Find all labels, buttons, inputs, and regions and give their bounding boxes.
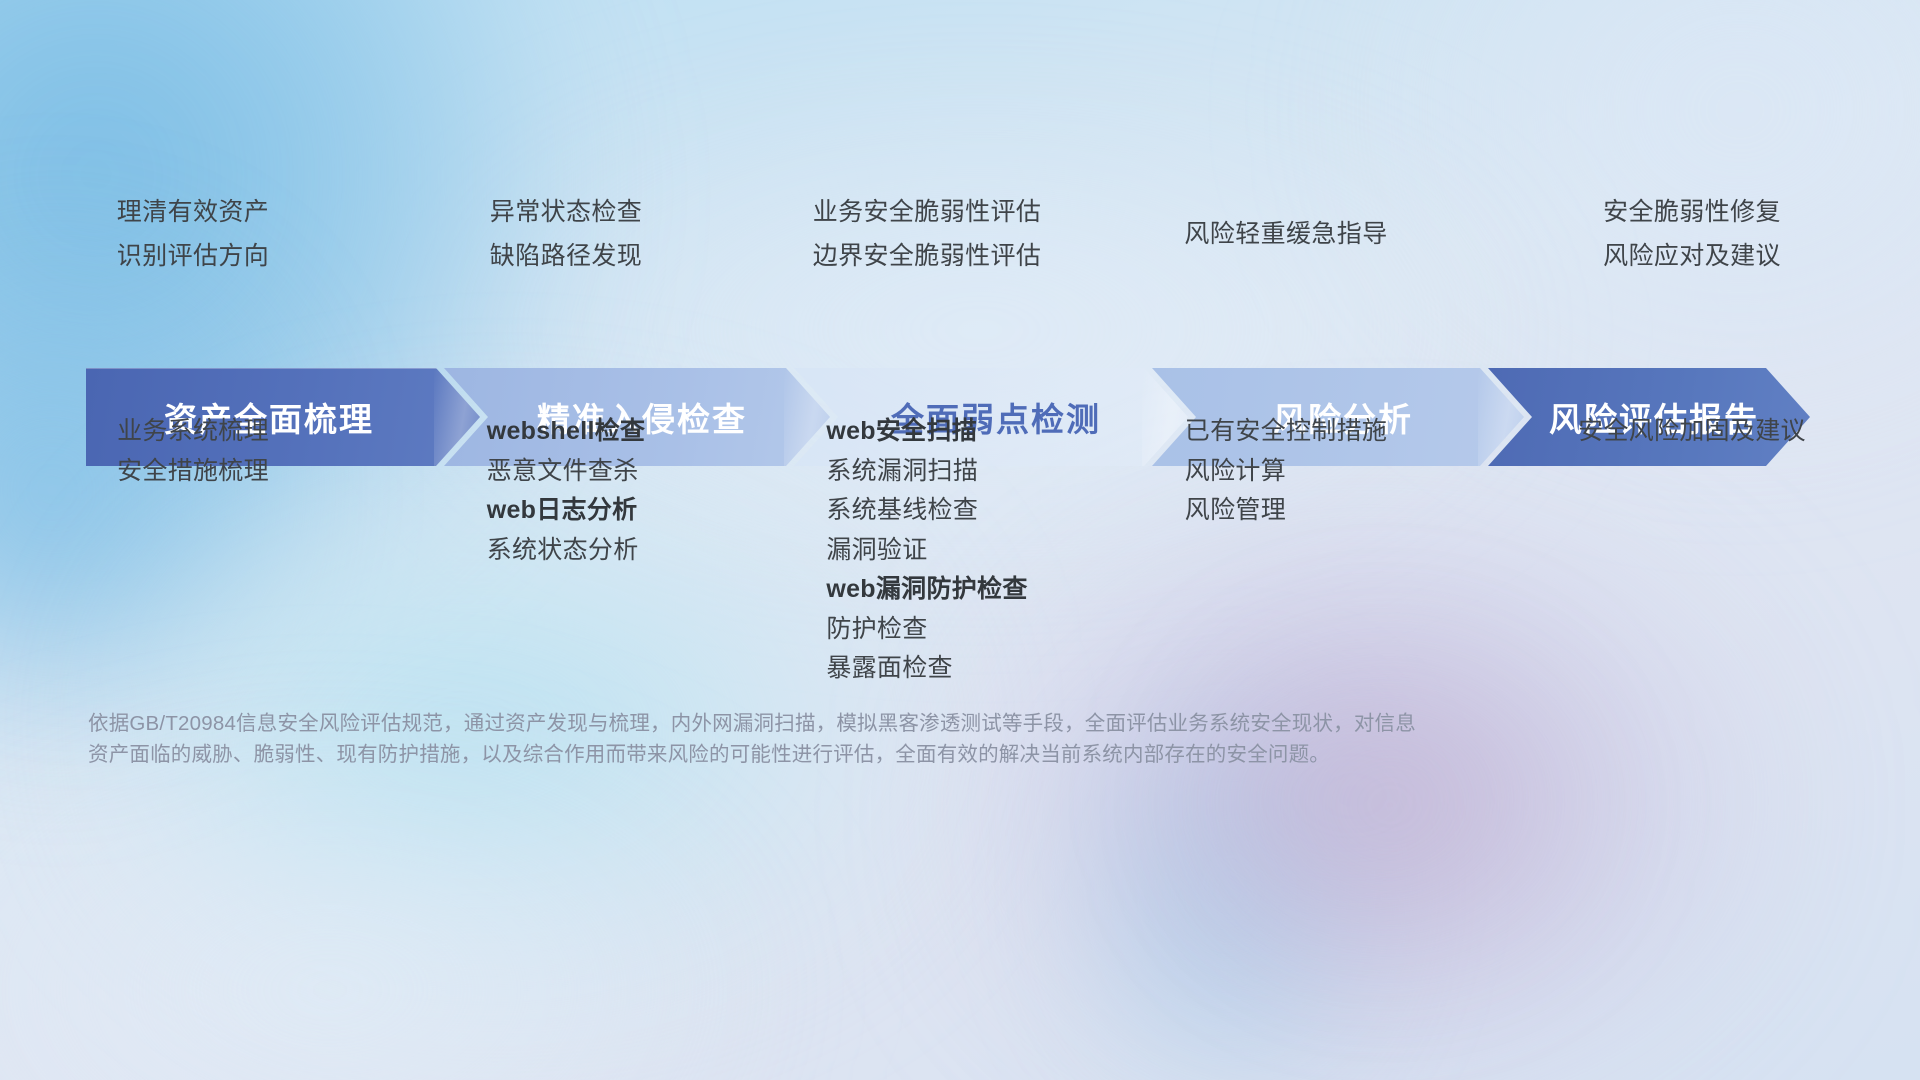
stage-task-item: 系统状态分析	[487, 531, 646, 571]
stage-task-item: webshell检查	[487, 412, 646, 452]
slide-canvas: 理清有效资产 识别评估方向 异常状态检查 缺陷路径发现 业务安全脆弱性评估 边界…	[0, 0, 1920, 1080]
stage-output-text: 识别评估方向	[117, 234, 269, 278]
stage-task-item: 恶意文件查杀	[487, 452, 646, 492]
stage-task-item: 安全风险加固及建议	[1578, 412, 1806, 452]
stage-output-text: 边界安全脆弱性评估	[813, 234, 1042, 278]
stage-output-text: 理清有效资产	[117, 190, 269, 234]
footer-description: 依据GB/T20984信息安全风险评估规范，通过资产发现与梳理，内外网漏洞扫描，…	[88, 708, 1408, 770]
stage-task-item: 风险计算	[1185, 452, 1387, 492]
stage-task-item: web安全扫描	[826, 412, 1027, 452]
stage-task-item: 业务系统梳理	[117, 412, 269, 452]
stage-tasks-row: 业务系统梳理 安全措施梳理 webshell检查 恶意文件查杀 web日志分析 …	[0, 412, 1920, 689]
stage-output-text: 安全脆弱性修复	[1603, 190, 1781, 234]
background-blob-lavender-accent	[1180, 640, 1600, 970]
stage-tasks-1: 业务系统梳理 安全措施梳理	[0, 412, 386, 491]
stage-task-item: web日志分析	[487, 491, 646, 531]
stage-outputs-5: 安全脆弱性修复 风险应对及建议	[1464, 190, 1920, 278]
stage-output-text: 异常状态检查	[490, 190, 642, 234]
footer-line: 资产面临的威胁、脆弱性、现有防护措施，以及综合作用而带来风险的可能性进行评估，全…	[88, 739, 1408, 770]
stage-task-item: web漏洞防护检查	[826, 570, 1027, 610]
stage-outputs-3: 业务安全脆弱性评估 边界安全脆弱性评估	[746, 190, 1108, 278]
stage-task-item: 已有安全控制措施	[1185, 412, 1387, 452]
stage-task-item: 风险管理	[1185, 491, 1387, 531]
stage-task-item: 安全措施梳理	[117, 452, 269, 492]
stage-output-text: 缺陷路径发现	[490, 234, 642, 278]
stage-output-text: 风险应对及建议	[1603, 234, 1781, 278]
stage-outputs-row: 理清有效资产 识别评估方向 异常状态检查 缺陷路径发现 业务安全脆弱性评估 边界…	[0, 190, 1920, 278]
background-blob-white-bottom-left	[0, 760, 780, 1080]
stage-outputs-1: 理清有效资产 识别评估方向	[0, 190, 386, 278]
stage-tasks-4: 已有安全控制措施 风险计算 风险管理	[1108, 412, 1464, 531]
stage-task-item: 防护检查	[826, 610, 1027, 650]
stage-output-text: 风险轻重缓急指导	[1184, 212, 1387, 256]
stage-task-item: 系统漏洞扫描	[826, 452, 1027, 492]
stage-output-text: 业务安全脆弱性评估	[813, 190, 1042, 234]
stage-task-item: 系统基线检查	[826, 491, 1027, 531]
stage-outputs-2: 异常状态检查 缺陷路径发现	[386, 190, 746, 278]
stage-tasks-5: 安全风险加固及建议	[1464, 412, 1920, 452]
stage-task-item: 暴露面检查	[826, 649, 1027, 689]
footer-line: 依据GB/T20984信息安全风险评估规范，通过资产发现与梳理，内外网漏洞扫描，…	[88, 708, 1408, 739]
stage-task-item: 漏洞验证	[826, 531, 1027, 571]
stage-outputs-4: 风险轻重缓急指导	[1108, 190, 1464, 256]
stage-tasks-3: web安全扫描 系统漏洞扫描 系统基线检查 漏洞验证 web漏洞防护检查 防护检…	[746, 412, 1108, 689]
stage-tasks-2: webshell检查 恶意文件查杀 web日志分析 系统状态分析	[386, 412, 746, 570]
